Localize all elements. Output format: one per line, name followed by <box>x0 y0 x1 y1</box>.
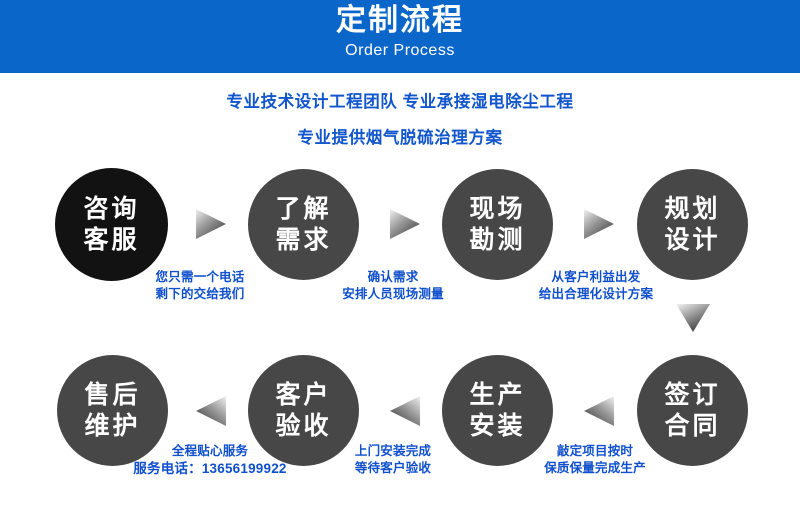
page-title: 定制流程 <box>0 2 800 40</box>
caption-line: 确认需求 <box>313 269 473 286</box>
caption-line: 剩下的交给我们 <box>120 286 280 303</box>
caption-line: 敲定项目按时 <box>500 443 690 460</box>
flow-step-label-line: 勘测 <box>469 225 525 256</box>
arrow-left-icon <box>580 392 618 430</box>
caption-line: 您只需一个电话 <box>120 269 280 286</box>
flow-step-caption: 敲定项目按时 保质保量完成生产 <box>500 443 690 477</box>
arrow-right-icon <box>386 205 424 243</box>
caption-line: 安排人员现场测量 <box>313 286 473 303</box>
arrow-left-icon <box>386 392 424 430</box>
flow-step-label-line: 需求 <box>275 225 331 256</box>
tagline-secondary: 专业提供烟气脱硫治理方案 <box>0 124 800 148</box>
flow-step-label-line: 现场 <box>469 194 525 225</box>
flow-step-label-line: 维护 <box>84 411 140 442</box>
flow-step-caption: 上门安装完成 等待客户验收 <box>313 443 473 477</box>
flow-step-label-line: 咨询 <box>83 194 139 225</box>
flow-step-label-line: 售后 <box>84 380 140 411</box>
page-header: 定制流程 Order Process <box>0 0 800 73</box>
caption-line: 等待客户验收 <box>313 460 473 477</box>
flow-step-label-line: 了解 <box>275 194 331 225</box>
flow-step-caption: 确认需求 安排人员现场测量 <box>313 269 473 303</box>
caption-line-phone: 服务电话：13656199922 <box>95 460 325 477</box>
arrow-left-icon <box>192 392 230 430</box>
flow-step-understand-needs[interactable]: 了解 需求 <box>248 169 359 280</box>
flow-step-label-line: 合同 <box>664 411 720 442</box>
flow-step-caption: 全程贴心服务 服务电话：13656199922 <box>95 443 325 477</box>
page-subtitle: Order Process <box>0 41 800 61</box>
caption-line: 上门安装完成 <box>313 443 473 460</box>
flow-step-label-line: 客户 <box>275 380 331 411</box>
arrow-right-icon <box>580 205 618 243</box>
arrow-down-icon <box>673 301 713 335</box>
flow-step-label-line: 安装 <box>469 411 525 442</box>
flow-step-label-line: 生产 <box>469 380 525 411</box>
flow-step-label-line: 设计 <box>664 225 720 256</box>
flow-step-label-line: 规划 <box>664 194 720 225</box>
caption-line: 给出合理化设计方案 <box>506 286 686 303</box>
caption-line: 全程贴心服务 <box>95 443 325 460</box>
flow-step-caption: 您只需一个电话 剩下的交给我们 <box>120 269 280 303</box>
flow-step-site-survey[interactable]: 现场 勘测 <box>442 169 553 280</box>
flow-step-label-line: 签订 <box>664 380 720 411</box>
flow-step-caption: 从客户利益出发 给出合理化设计方案 <box>506 269 686 303</box>
arrow-right-icon <box>192 205 230 243</box>
caption-line: 保质保量完成生产 <box>500 460 690 477</box>
flow-step-label-line: 验收 <box>275 411 331 442</box>
flow-step-label-line: 客服 <box>83 225 139 256</box>
flow-step-planning-design[interactable]: 规划 设计 <box>637 169 748 280</box>
tagline-primary: 专业技术设计工程团队 专业承接湿电除尘工程 <box>0 88 800 112</box>
flow-step-consult-service[interactable]: 咨询 客服 <box>55 168 168 281</box>
caption-line: 从客户利益出发 <box>506 269 686 286</box>
